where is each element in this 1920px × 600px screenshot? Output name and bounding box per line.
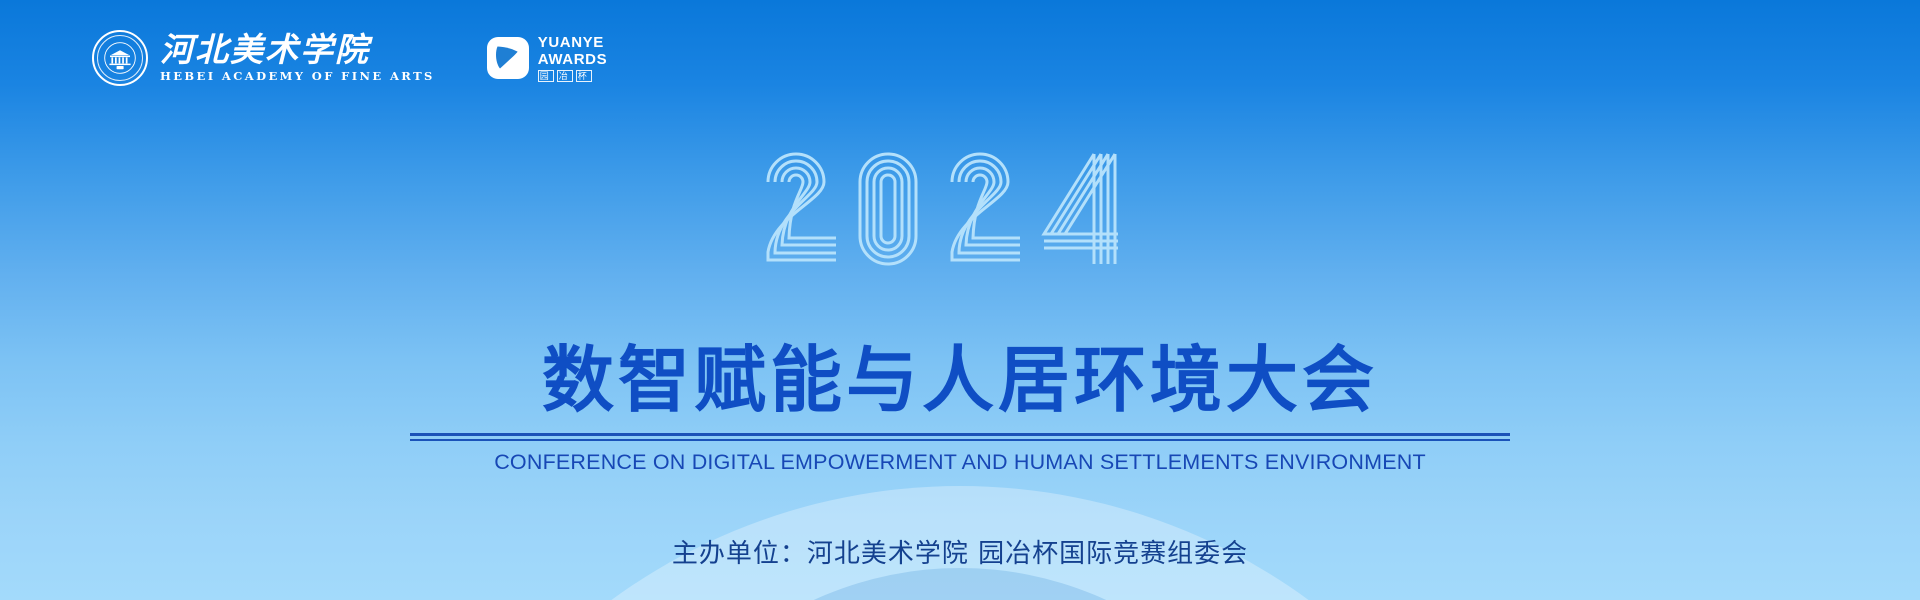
hebei-name-cn: 河北美术学院 (160, 33, 435, 66)
yuanye-line2: AWARDS (538, 52, 607, 67)
yuanye-leaf-mark-icon (487, 37, 529, 79)
yuanye-awards-logo[interactable]: YUANYE AWARDS 园 冶 杯 (487, 35, 607, 82)
hebei-academy-logo[interactable]: 河北美术学院 HEBEI ACADEMY OF FINE ARTS (92, 30, 435, 86)
academy-seal-icon (92, 30, 148, 86)
yuanye-cn-char-3: 杯 (576, 70, 592, 82)
hebei-name-en: HEBEI ACADEMY OF FINE ARTS (160, 71, 435, 83)
organizer-line: 主办单位：河北美术学院 园冶杯国际竞赛组委会 (672, 533, 1248, 570)
yuanye-cn-char-2: 冶 (557, 70, 573, 82)
yuanye-cn-char-1: 园 (538, 70, 554, 82)
title-rules (410, 433, 1510, 441)
main-title: 数智赋能与人居环境大会 (410, 344, 1510, 416)
title-rule-top (410, 433, 1510, 436)
year-2024-graphic (760, 138, 1160, 278)
year-digit-2b (952, 154, 1020, 260)
conference-banner: 河北美术学院 HEBEI ACADEMY OF FINE ARTS YUANYE… (0, 0, 1920, 600)
yuanye-line1: YUANYE (538, 35, 607, 50)
subtitle-en: CONFERENCE ON DIGITAL EMPOWERMENT AND HU… (410, 450, 1510, 475)
title-rule-bottom (410, 439, 1510, 441)
hebei-academy-wordmark: 河北美术学院 HEBEI ACADEMY OF FINE ARTS (160, 33, 435, 83)
logo-row: 河北美术学院 HEBEI ACADEMY OF FINE ARTS YUANYE… (92, 30, 607, 86)
title-block: 数智赋能与人居环境大会 CONFERENCE ON DIGITAL EMPOWE… (410, 344, 1510, 475)
decorative-arc-inner (610, 568, 1310, 600)
year-digit-2a (768, 154, 836, 260)
year-digit-4 (1044, 154, 1118, 264)
yuanye-name-cn: 园 冶 杯 (538, 70, 607, 82)
year-digit-0 (860, 154, 916, 264)
yuanye-wordmark: YUANYE AWARDS 园 冶 杯 (538, 35, 607, 82)
